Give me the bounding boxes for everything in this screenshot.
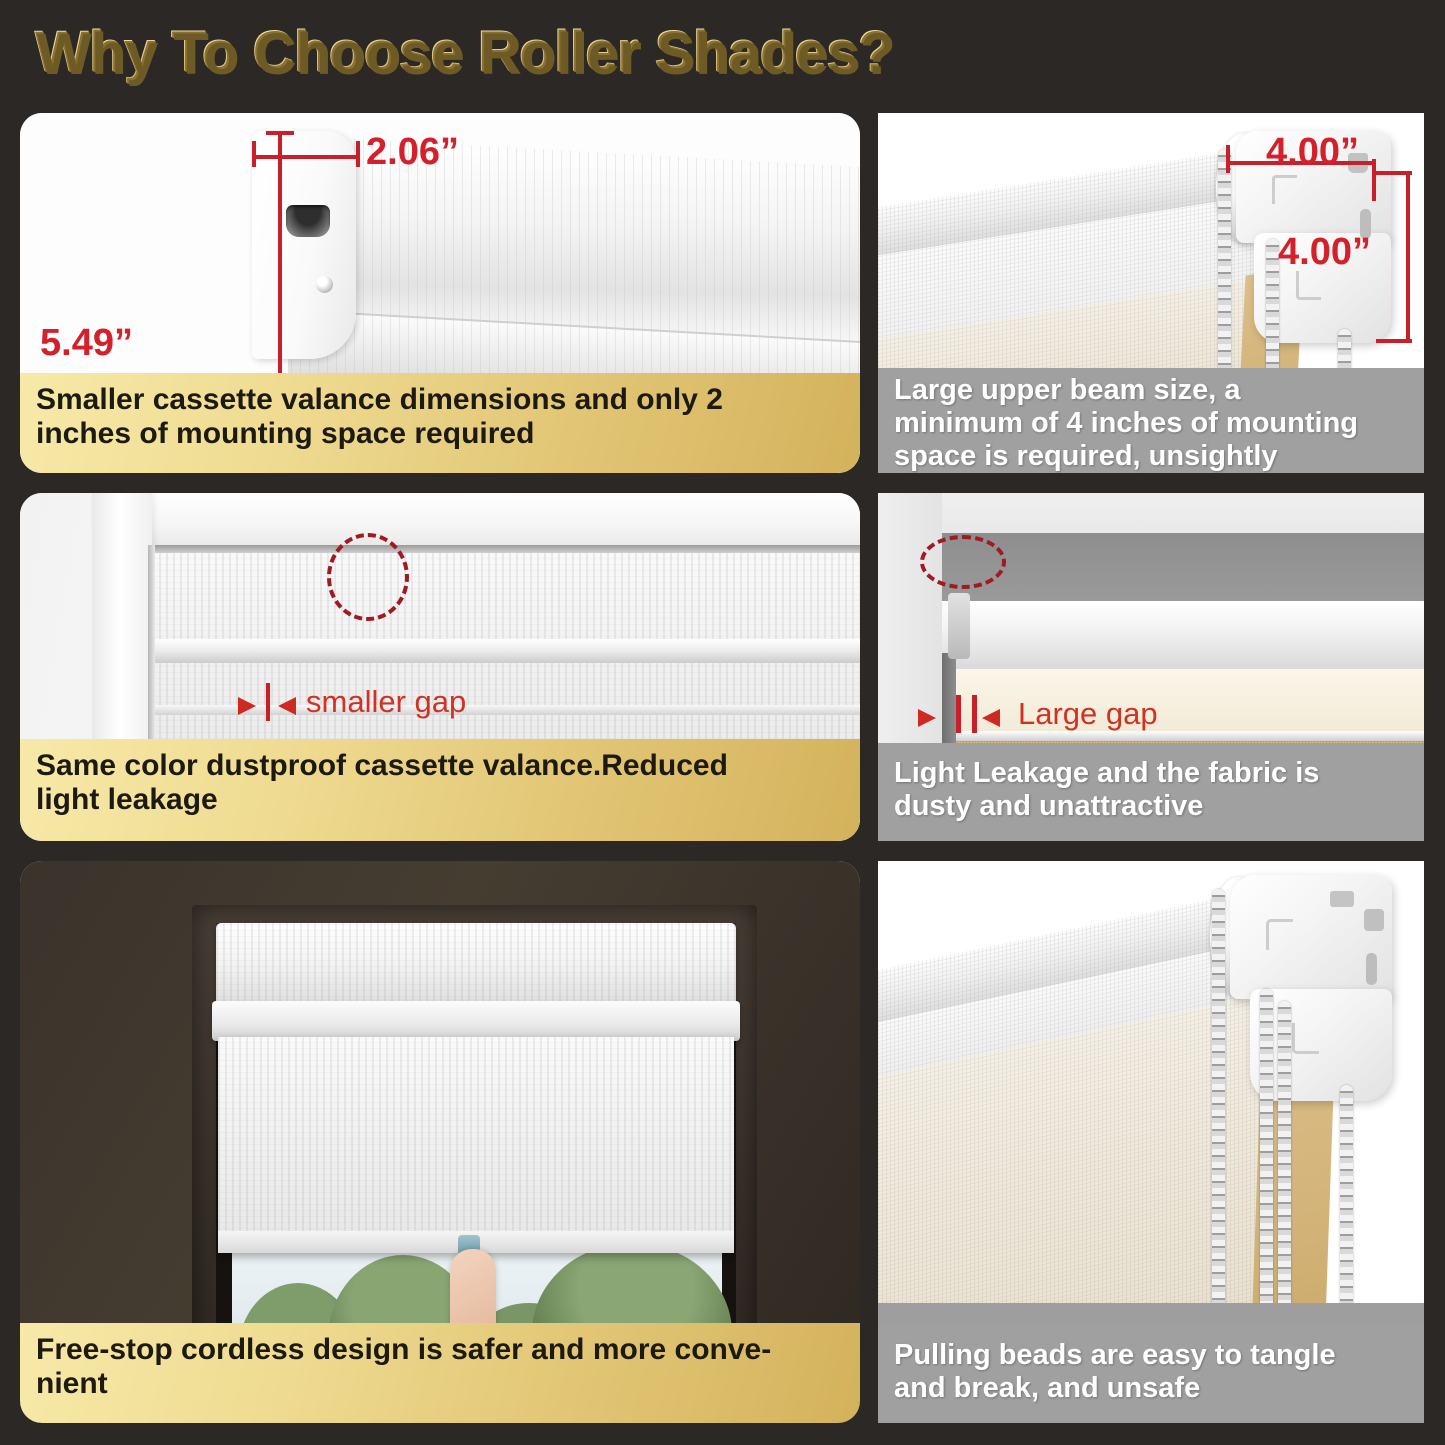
panel-6-caption: Pulling beads are easy to tangle and bre… [878,1325,1424,1423]
dim2-height-label: 4.00” [1278,231,1371,274]
panel-4-caption-line-2: dusty and unattractive [894,790,1408,823]
dim-height-label: 5.49” [40,322,133,365]
shade-fabric [218,1037,734,1253]
panel-4-caption: Light Leakage and the fabric is dusty an… [878,743,1424,841]
dim-width-label: 2.06” [366,131,459,174]
gap-marker-line-a [956,695,961,733]
window-frame-top [112,493,860,551]
valance-band-upper [152,545,860,553]
gap-label-smaller: smaller gap [306,684,466,720]
fabric-seam [950,731,1424,741]
panel-2-caption-line-2: minimum of 4 inches of mounting [894,407,1408,440]
panel-3-caption-line-2: light leakage [36,783,844,817]
panel-1-caption: Smaller cassette valance dimensions and … [20,373,860,473]
dim-height-tick-top [266,131,294,135]
dim-width-line [252,155,360,159]
panel-1-caption-line-1: Smaller cassette valance dimensions and … [36,383,844,417]
cassette-end-cap [252,131,356,359]
panel-4-caption-line-1: Light Leakage and the fabric is [894,757,1408,790]
page-title: Why To Choose Roller Shades? [34,18,892,85]
panel-3-caption: Same color dustproof cassette valance.Re… [20,739,860,841]
panel-2-large-beam: 4.00” 4.00” Large upper beam size, a min… [878,113,1424,473]
gray-recess-band [942,533,1424,607]
bracket-clip [948,593,970,659]
panel-5-cordless-design: Free-stop cordless design is safer and m… [20,861,860,1423]
gap-arrow-right [278,697,296,715]
panel-2-caption-line-3: space is required, unsightly [894,440,1408,473]
dim-width-tick-right [356,141,360,167]
highlight-circle [327,533,409,621]
panel-3-dustproof-valance: smaller gap Same color dustproof cassett… [20,493,860,841]
panel-1-smaller-cassette: 2.06” 5.49” Smaller cassette valance dim… [20,113,860,473]
floor-strip [878,1303,1424,1325]
gap-arrow-left [238,697,256,715]
dim2-height-line [1406,171,1410,343]
highlight-ellipse [920,535,1006,589]
bead-chain-left [1212,889,1225,1369]
gap-arrow-right [982,709,1000,727]
bracket-icon-upper [1266,919,1293,950]
dim2-width-tick-left [1226,145,1230,173]
dim2-height-tick-bottom [1376,339,1412,343]
dim2-height-tick-top [1376,171,1412,175]
bracket-notch-1 [1330,891,1354,907]
gap-marker-line [266,683,270,721]
infographic-page: Why To Choose Roller Shades? 2.06” 5.49”… [0,0,1445,1445]
bracket-notch-2 [1364,909,1384,931]
dim-width-tick-left [252,141,256,167]
valance-lip [212,1001,740,1041]
bracket-icon-lower [1296,271,1321,300]
end-cap-screw-upper [316,276,333,293]
panel-3-caption-line-1: Same color dustproof cassette valance.Re… [36,749,844,783]
valance-band-mid [152,639,860,663]
panel-2-caption-line-1: Large upper beam size, a [894,374,1408,407]
bracket-notch-3 [1366,953,1377,985]
panel-1-caption-line-2: inches of mounting space required [36,417,844,451]
panel-6-caption-line-1: Pulling beads are easy to tangle [894,1339,1408,1372]
bracket-icon-upper [1272,175,1297,204]
bead-chain-left [1218,149,1231,389]
panel-4-light-leakage: Large gap Light Leakage and the fabric i… [878,493,1424,841]
dim2-width-tick-right [1372,159,1376,201]
panel-6-caption-line-2: and break, and unsafe [894,1372,1408,1405]
panel-5-caption-line-2: nient [36,1367,844,1401]
gap-label-large: Large gap [1018,696,1158,732]
gap-marker-line-b [972,695,977,733]
bracket-icon-lower [1292,1023,1319,1054]
panel-2-caption: Large upper beam size, a minimum of 4 in… [878,368,1424,473]
panel-6-pulling-beads: Pulling beads are easy to tangle and bre… [878,861,1424,1423]
dim2-width-label: 4.00” [1266,131,1359,174]
end-cap-slot [286,205,330,237]
valance-band-lower [152,705,860,715]
panel-5-caption-line-1: Free-stop cordless design is safer and m… [36,1333,844,1367]
gap-arrow-left [918,709,936,727]
panel-5-caption: Free-stop cordless design is safer and m… [20,1323,860,1423]
white-roller-tube [942,601,1424,675]
